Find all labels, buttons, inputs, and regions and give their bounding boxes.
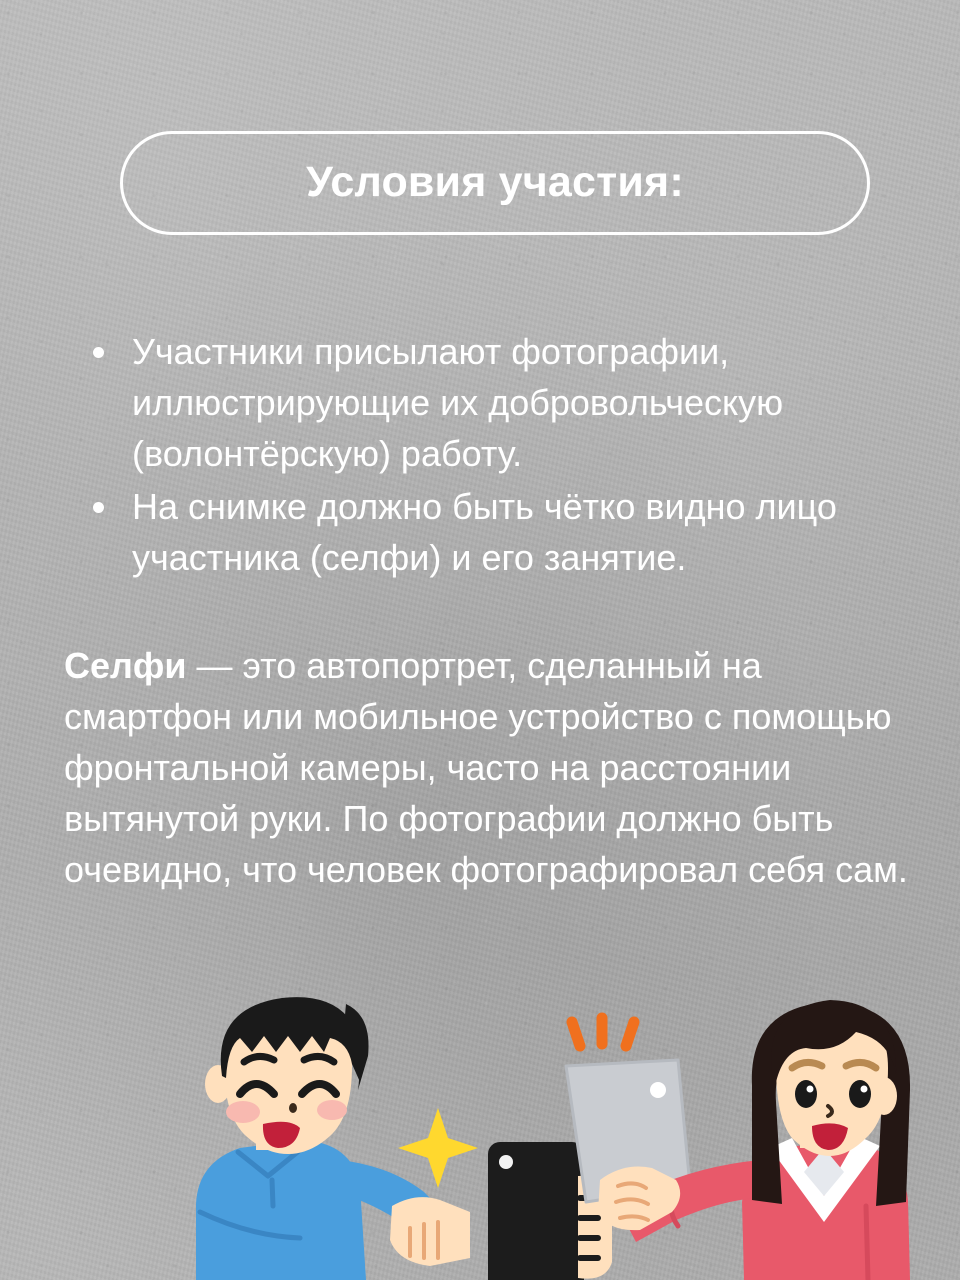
body-copy: Участники присылают фотографии, иллюстри… (64, 326, 916, 931)
list-item: Участники присылают фотографии, иллюстри… (64, 326, 916, 479)
list-item: На снимке должно быть чётко видно лицо у… (64, 481, 916, 583)
boy-phone-camera (499, 1155, 513, 1169)
selfie-definition: Селфи — это автопортрет, сделанный на см… (64, 640, 916, 895)
boy-hand (390, 1197, 470, 1266)
flash-lines-icon (572, 1018, 634, 1046)
boy-figure (196, 997, 612, 1280)
definition-term: Селфи (64, 645, 187, 686)
poster-canvas: Условия участия: Участники присылают фот… (0, 0, 960, 1280)
sparkle-icon (398, 1108, 478, 1188)
girl-eye-left (795, 1080, 817, 1108)
illustration (0, 990, 960, 1280)
conditions-list: Участники присылают фотографии, иллюстри… (64, 326, 916, 583)
girl-phone-camera (650, 1082, 666, 1098)
boy-cheek-right (317, 1100, 347, 1120)
girl-sweater-fold (866, 1206, 868, 1280)
boy-cheek-left (226, 1101, 260, 1123)
girl-eye-right-glint (861, 1086, 868, 1093)
page-title: Условия участия: (306, 158, 684, 207)
girl-eye-left-glint (807, 1086, 814, 1093)
definition-separator: — (187, 645, 243, 686)
boy-nose (289, 1103, 297, 1113)
girl-eye-right (849, 1080, 871, 1108)
boy-placket-line (272, 1180, 273, 1206)
girl-figure (566, 1000, 910, 1280)
title-pill: Условия участия: (120, 131, 870, 235)
